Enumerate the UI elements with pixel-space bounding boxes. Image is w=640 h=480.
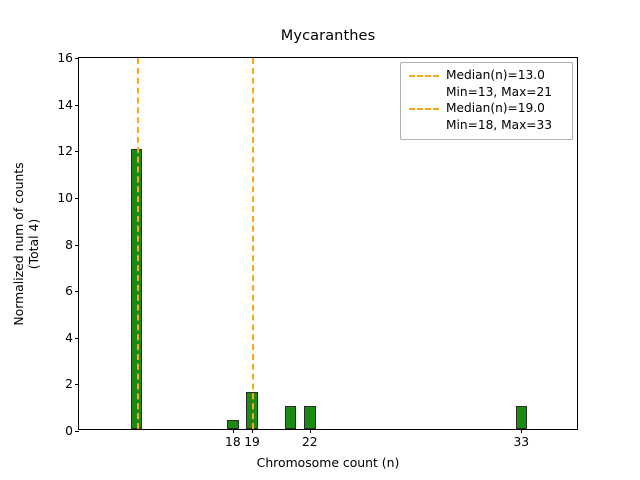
- bar-n-21: [285, 406, 297, 429]
- median-line-0: [137, 58, 139, 429]
- y-axis-label-line1: Normalized num of counts: [11, 162, 26, 325]
- x-tick-mark: [310, 429, 311, 433]
- legend-entry: Median(n)=13.0: [407, 68, 566, 84]
- x-tick-mark: [233, 429, 234, 433]
- y-tick-label: 4: [33, 331, 79, 345]
- y-tick-label: 0: [33, 424, 79, 438]
- bar-n-33: [516, 406, 528, 429]
- y-tick-label: 16: [33, 51, 79, 65]
- bar-n-18: [227, 420, 239, 429]
- y-tick-mark: [75, 245, 79, 246]
- legend-sublabel: Min=18, Max=33: [446, 118, 566, 134]
- y-tick-mark: [75, 198, 79, 199]
- x-tick-mark: [521, 429, 522, 433]
- y-tick-label: 8: [33, 238, 79, 252]
- y-tick-mark: [75, 291, 79, 292]
- y-tick-mark: [75, 384, 79, 385]
- legend: Median(n)=13.0Min=13, Max=21Median(n)=19…: [400, 62, 573, 140]
- y-tick-label: 14: [33, 98, 79, 112]
- legend-sublabel: Min=13, Max=21: [446, 85, 566, 101]
- legend-label: Median(n)=13.0: [446, 68, 545, 84]
- x-tick-mark: [252, 429, 253, 433]
- y-tick-label: 10: [33, 191, 79, 205]
- y-tick-label: 6: [33, 284, 79, 298]
- x-tick-label: 19: [244, 435, 260, 449]
- median-line-1: [252, 58, 254, 429]
- y-tick-label: 2: [33, 377, 79, 391]
- y-tick-mark: [75, 58, 79, 59]
- x-axis-label: Chromosome count (n): [78, 455, 578, 470]
- figure: Mycaranthes Normalized num of counts (To…: [0, 0, 640, 480]
- chart-title: Mycaranthes: [78, 28, 578, 44]
- bar-n-22: [304, 406, 316, 429]
- y-tick-mark: [75, 151, 79, 152]
- y-tick-label: 12: [33, 144, 79, 158]
- legend-entry: Median(n)=19.0: [407, 101, 566, 117]
- y-tick-mark: [75, 338, 79, 339]
- x-tick-label: 22: [302, 435, 318, 449]
- legend-label: Median(n)=19.0: [446, 101, 545, 117]
- x-tick-label: 33: [513, 435, 529, 449]
- legend-dashed-line-icon: [409, 70, 439, 84]
- y-tick-mark: [75, 105, 79, 106]
- x-tick-label: 18: [225, 435, 241, 449]
- y-tick-mark: [75, 431, 79, 432]
- legend-dashed-line-icon: [409, 103, 439, 117]
